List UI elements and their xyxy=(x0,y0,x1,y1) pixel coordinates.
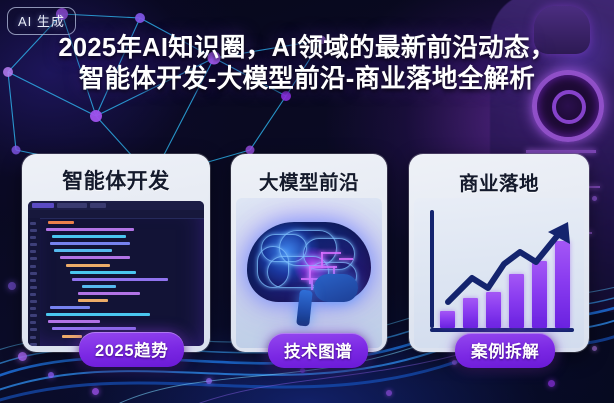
headline-line-1: 2025年AI知识圈，AI领域的最新前沿动态， xyxy=(58,34,555,62)
card-title: 智能体开发 xyxy=(22,154,210,204)
cerebellum-shape xyxy=(314,274,358,302)
chart-y-axis xyxy=(430,210,434,328)
card-title: 大模型前沿 xyxy=(231,154,387,201)
editor-tab xyxy=(57,203,87,208)
particle-dot xyxy=(48,372,54,378)
button-tech-graph[interactable]: 技术图谱 xyxy=(268,333,368,368)
editor-tab-bar xyxy=(28,201,204,210)
brain-stem-shape xyxy=(296,289,313,326)
chart-axes xyxy=(430,210,570,332)
card-large-model-frontier[interactable]: 大模型前沿 xyxy=(231,154,387,352)
code-editor-screenshot xyxy=(28,201,204,346)
ai-generated-badge: AI 生成 xyxy=(7,7,76,35)
card-title: 商业落地 xyxy=(409,154,589,202)
growth-bar-chart xyxy=(414,198,584,348)
particle-dot xyxy=(548,380,555,387)
robot-accent-line xyxy=(526,150,596,153)
particle-dot xyxy=(386,390,392,396)
particle-dot xyxy=(206,378,212,384)
card-agent-development[interactable]: 智能体开发 xyxy=(22,154,210,352)
editor-tab xyxy=(32,203,54,208)
editor-code-lines xyxy=(28,218,204,346)
poster-canvas: AI 生成 2025年AI知识圈，AI领域的最新前沿动态， 智能体开发-大模型前… xyxy=(0,0,614,403)
button-2025-trends[interactable]: 2025趋势 xyxy=(79,332,184,367)
card-business-implementation[interactable]: 商业落地 xyxy=(409,154,589,352)
trend-arrow-icon xyxy=(444,218,576,324)
button-case-breakdown[interactable]: 案例拆解 xyxy=(455,333,555,368)
digital-brain-illustration xyxy=(236,198,382,348)
headline-line-2: 智能体开发-大模型前沿-商业落地全解析 xyxy=(0,64,614,95)
chart-x-axis xyxy=(430,328,574,332)
particle-dot xyxy=(92,388,99,395)
editor-tab xyxy=(90,203,106,208)
page-title: 2025年AI知识圈，AI领域的最新前沿动态， 智能体开发-大模型前沿-商业落地… xyxy=(0,33,614,95)
